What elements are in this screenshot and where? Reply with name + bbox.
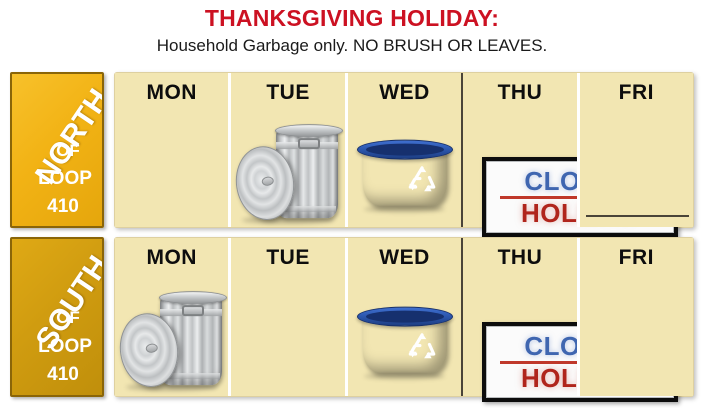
day-art-south-wed bbox=[348, 276, 461, 392]
day-cell-south-tue: TUE bbox=[228, 238, 344, 396]
day-label-south-mon: MON bbox=[115, 246, 228, 270]
recycling-bin-shadow bbox=[364, 373, 445, 380]
recycling-bin-interior bbox=[366, 144, 444, 156]
day-label-south-fri: FRI bbox=[580, 246, 693, 270]
recycling-bin-interior bbox=[366, 311, 444, 323]
week-board-north: MON TUE bbox=[114, 72, 694, 228]
recycle-symbol-icon bbox=[405, 164, 439, 196]
day-art-north-wed bbox=[348, 111, 461, 223]
header: THANKSGIVING HOLIDAY: Household Garbage … bbox=[0, 0, 704, 68]
page-subtitle: Household Garbage only. NO BRUSH OR LEAV… bbox=[0, 36, 704, 56]
day-label-south-wed: WED bbox=[348, 246, 461, 270]
schedule-row-south: SOUTH OF LOOP 410 MON bbox=[0, 237, 704, 397]
day-cell-north-thu: THU CLOSED HOLIDAY bbox=[461, 73, 576, 227]
trash-can-lid-knob bbox=[145, 343, 158, 354]
day-cell-north-mon: MON bbox=[115, 73, 228, 227]
region-loop-number-south: 410 bbox=[12, 364, 102, 386]
trash-can-lid-knob bbox=[261, 176, 274, 187]
region-loop-label-north: LOOP bbox=[12, 168, 102, 190]
region-sign-north: NORTH OF LOOP 410 bbox=[10, 72, 104, 228]
day-label-north-tue: TUE bbox=[231, 81, 344, 105]
day-cell-south-wed: WED bbox=[345, 238, 461, 396]
day-art-north-fri bbox=[580, 111, 693, 223]
day-label-north-mon: MON bbox=[115, 81, 228, 105]
day-cell-south-mon: MON bbox=[115, 238, 228, 396]
region-of-label-north: OF bbox=[12, 141, 102, 161]
day-art-south-tue bbox=[231, 276, 344, 392]
region-loop-number-north: 410 bbox=[12, 196, 102, 218]
recycling-bin-shadow bbox=[364, 206, 445, 213]
schedule-row-north: NORTH OF LOOP 410 MON TUE bbox=[0, 72, 704, 228]
day-cell-south-fri: FRI bbox=[577, 238, 693, 396]
day-cell-north-fri: FRI bbox=[577, 73, 693, 227]
day-art-south-fri bbox=[580, 276, 693, 392]
region-of-label-south: OF bbox=[12, 308, 102, 328]
day-label-south-tue: TUE bbox=[231, 246, 344, 270]
trash-can-rim bbox=[275, 124, 343, 137]
day-art-north-tue bbox=[231, 111, 344, 223]
day-cell-north-wed: WED bbox=[345, 73, 461, 227]
week-board-south: MON TUE bbox=[114, 237, 694, 397]
recycling-bin-icon bbox=[357, 307, 453, 377]
trash-can-rim bbox=[159, 291, 227, 304]
day-art-north-mon bbox=[115, 111, 228, 223]
day-art-south-mon bbox=[115, 276, 228, 392]
day-art-south-thu: CLOSED HOLIDAY bbox=[463, 276, 576, 392]
friday-underline-north bbox=[586, 215, 689, 217]
trash-can-handle bbox=[182, 305, 204, 316]
day-label-south-thu: THU bbox=[463, 246, 576, 270]
day-cell-north-tue: TUE bbox=[228, 73, 344, 227]
day-label-north-wed: WED bbox=[348, 81, 461, 105]
day-art-north-thu: CLOSED HOLIDAY bbox=[463, 111, 576, 223]
region-sign-south: SOUTH OF LOOP 410 bbox=[10, 237, 104, 397]
recycling-bin-icon bbox=[357, 140, 453, 210]
day-label-north-thu: THU bbox=[463, 81, 576, 105]
trash-can-icon bbox=[236, 116, 340, 222]
recycle-symbol-icon bbox=[405, 331, 439, 363]
page-title: THANKSGIVING HOLIDAY: bbox=[0, 5, 704, 32]
region-loop-label-south: LOOP bbox=[12, 336, 102, 358]
trash-can-icon bbox=[120, 283, 224, 389]
trash-can-handle bbox=[298, 138, 320, 149]
thanksgiving-collection-schedule: THANKSGIVING HOLIDAY: Household Garbage … bbox=[0, 0, 704, 408]
day-label-north-fri: FRI bbox=[580, 81, 693, 105]
day-cell-south-thu: THU CLOSED HOLIDAY bbox=[461, 238, 576, 396]
